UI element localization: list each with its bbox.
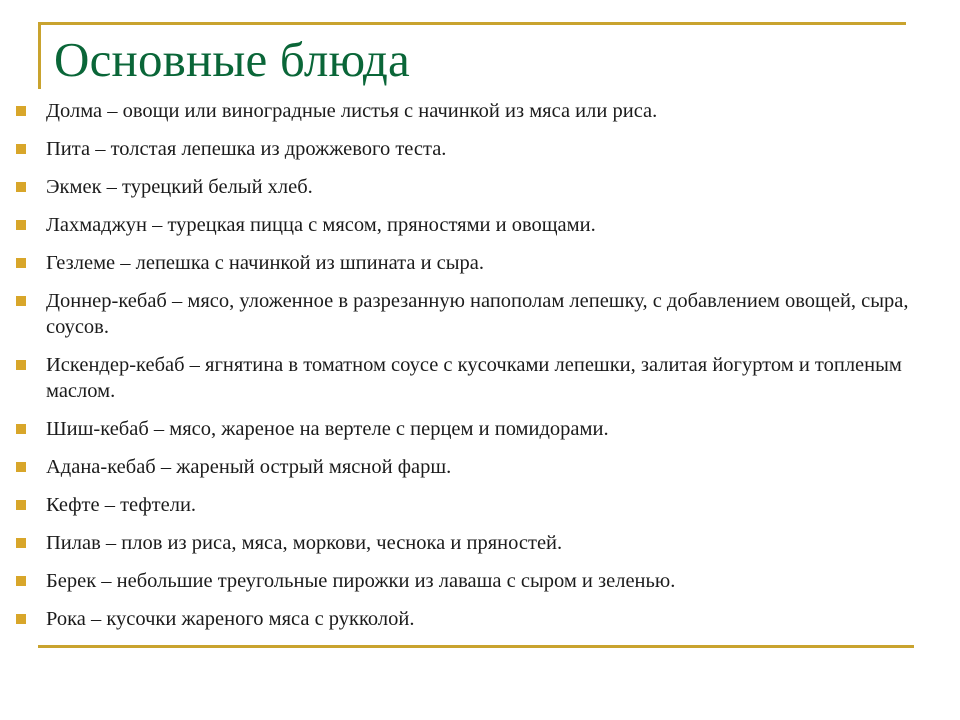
dish-list: Долма – овощи или виноградные листья с н… <box>0 98 960 632</box>
bullet-square-icon <box>16 360 26 370</box>
list-item: Пита – толстая лепешка из дрожжевого тес… <box>0 136 960 162</box>
bullet-square-icon <box>16 220 26 230</box>
list-item: Лахмаджун – турецкая пицца с мясом, прян… <box>0 212 960 238</box>
list-item-label: Искендер-кебаб – ягнятина в томатном соу… <box>46 352 950 404</box>
bullet-square-icon <box>16 144 26 154</box>
bullet-square-icon <box>16 182 26 192</box>
list-item-label: Пилав – плов из риса, мяса, моркови, чес… <box>46 530 950 556</box>
bullet-square-icon <box>16 538 26 548</box>
bullet-square-icon <box>16 576 26 586</box>
bullet-square-icon <box>16 462 26 472</box>
list-item: Долма – овощи или виноградные листья с н… <box>0 98 960 124</box>
list-item-label: Долма – овощи или виноградные листья с н… <box>46 98 950 124</box>
bullet-square-icon <box>16 500 26 510</box>
list-item-label: Доннер-кебаб – мясо, уложенное в разреза… <box>46 288 950 340</box>
page-title: Основные блюда <box>54 33 410 87</box>
list-item-label: Рока – кусочки жареного мяса с рукколой. <box>46 606 950 632</box>
list-item-label: Адана-кебаб – жареный острый мясной фарш… <box>46 454 950 480</box>
list-item-label: Экмек – турецкий белый хлеб. <box>46 174 950 200</box>
list-item: Экмек – турецкий белый хлеб. <box>0 174 960 200</box>
list-item: Кефте – тефтели. <box>0 492 960 518</box>
title-top-rule-decoration <box>38 22 906 25</box>
list-item-label: Берек – небольшие треугольные пирожки из… <box>46 568 950 594</box>
list-item: Берек – небольшие треугольные пирожки из… <box>0 568 960 594</box>
list-item: Доннер-кебаб – мясо, уложенное в разреза… <box>0 288 960 340</box>
footer-rule-decoration <box>38 645 914 648</box>
slide-canvas: Основные блюда Долма – овощи или виногра… <box>0 0 960 720</box>
title-left-rule-decoration <box>38 22 41 89</box>
list-item: Рока – кусочки жареного мяса с рукколой. <box>0 606 960 632</box>
list-item: Пилав – плов из риса, мяса, моркови, чес… <box>0 530 960 556</box>
list-item: Гезлеме – лепешка с начинкой из шпината … <box>0 250 960 276</box>
list-item-label: Кефте – тефтели. <box>46 492 950 518</box>
bullet-square-icon <box>16 614 26 624</box>
list-item: Шиш-кебаб – мясо, жареное на вертеле с п… <box>0 416 960 442</box>
list-item-label: Пита – толстая лепешка из дрожжевого тес… <box>46 136 950 162</box>
list-item-label: Шиш-кебаб – мясо, жареное на вертеле с п… <box>46 416 950 442</box>
bullet-square-icon <box>16 424 26 434</box>
list-item: Адана-кебаб – жареный острый мясной фарш… <box>0 454 960 480</box>
list-item-label: Лахмаджун – турецкая пицца с мясом, прян… <box>46 212 950 238</box>
list-item-label: Гезлеме – лепешка с начинкой из шпината … <box>46 250 950 276</box>
list-item: Искендер-кебаб – ягнятина в томатном соу… <box>0 352 960 404</box>
bullet-square-icon <box>16 258 26 268</box>
bullet-square-icon <box>16 106 26 116</box>
bullet-square-icon <box>16 296 26 306</box>
